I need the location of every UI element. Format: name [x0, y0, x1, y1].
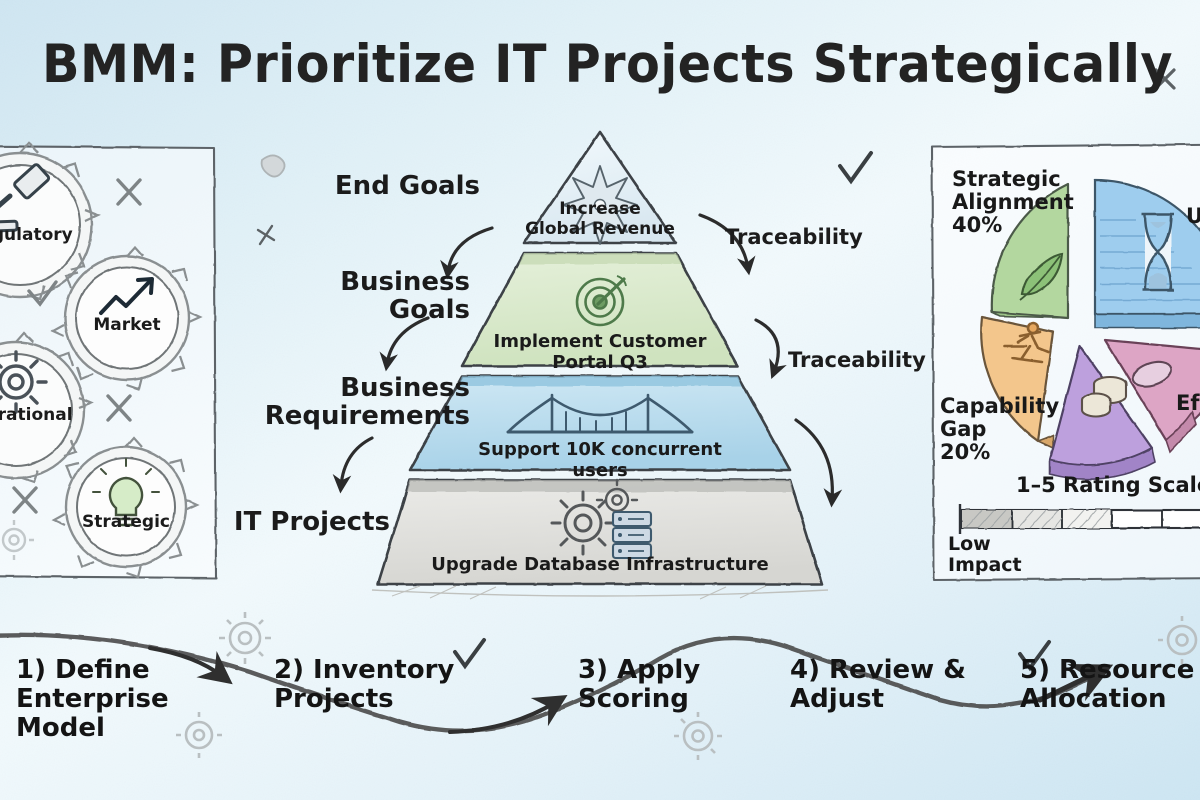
badge-operational-label: Operational	[0, 405, 73, 425]
rating-scale-low-label: Low Impact	[948, 534, 1068, 576]
workflow-step-4[interactable]: 4) Review & Adjust	[790, 656, 990, 714]
hourglass-icon	[1142, 214, 1174, 290]
traceability-label-2: Traceability	[788, 348, 926, 372]
tier-label-business-requirements: Business Requirements	[210, 374, 470, 430]
tier-label-business-goals: Business Goals	[270, 268, 470, 324]
pie-label-capability-gap: Capability Gap 20%	[940, 395, 1100, 464]
workflow-step-1[interactable]: 1) Define Enterprise Model	[16, 656, 206, 743]
workflow-step-2[interactable]: 2) Inventory Projects	[274, 656, 474, 714]
workflow-step-3[interactable]: 3) Apply Scoring	[578, 656, 748, 714]
tier-text-business-goals: Implement Customer Portal Q3	[460, 332, 740, 373]
tier-label-it-projects: IT Projects	[190, 508, 390, 536]
workflow-step-5[interactable]: 5) Resource Allocation	[1020, 656, 1200, 714]
tier-text-end-goals: Increase Global Revenue	[520, 200, 680, 239]
pie-label-urgency: U	[1186, 205, 1200, 228]
page-title: BMM: Prioritize IT Projects Strategicall…	[42, 34, 1158, 95]
rating-scale-title: 1–5 Rating Scale	[1016, 473, 1200, 497]
traceability-label-1: Traceability	[725, 225, 863, 249]
tier-text-business-requirements: Support 10K concurrent users	[450, 440, 750, 481]
tier-text-it-projects: Upgrade Database Infrastructure	[430, 555, 770, 576]
pie-label-effort: Ef	[1176, 392, 1200, 415]
badge-regulatory-label: Regulatory	[0, 225, 73, 245]
server-icon	[613, 512, 651, 558]
pie-label-strategic-alignment: Strategic Alignment 40%	[952, 168, 1132, 237]
tier-label-end-goals: End Goals	[300, 172, 480, 200]
badge-market-label: Market	[93, 315, 160, 335]
badge-strategic-label: Strategic	[82, 512, 170, 532]
